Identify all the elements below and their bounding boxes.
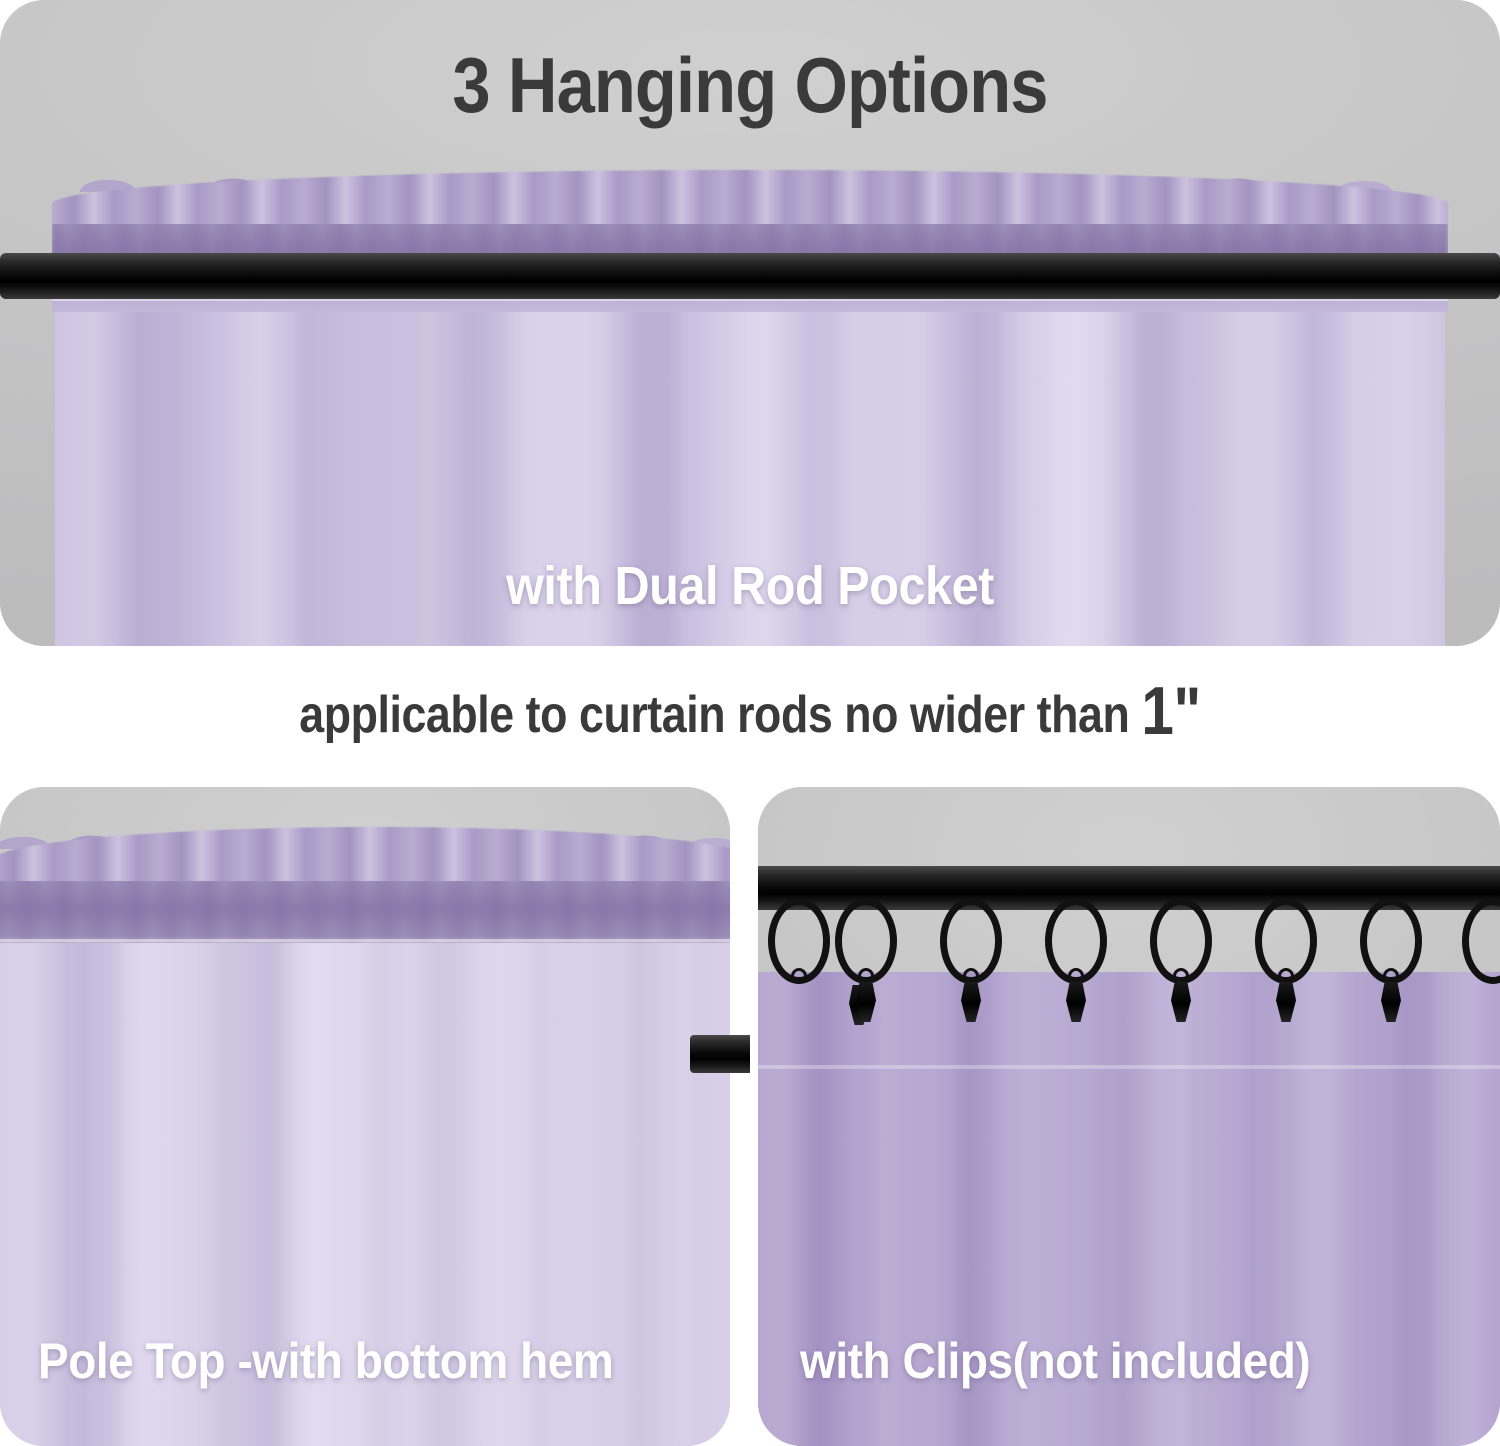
caption-pole-top: Pole Top -with bottom hem (38, 1332, 613, 1390)
caption-clips: with Clips(not included) (800, 1332, 1310, 1390)
panel-dual-rod-pocket: 3 Hanging Options with Dual Rod Pocket (0, 0, 1500, 646)
curtain-rod-icon (0, 253, 1500, 299)
page-title: 3 Hanging Options (90, 40, 1410, 131)
curtain-clip-hook-icon (1173, 968, 1189, 984)
curtain-header-seam (758, 1065, 1500, 1069)
curtain-clip-hook-icon (1278, 968, 1294, 984)
curtain-clip-hook-icon (858, 968, 874, 984)
subtitle-rod-width-note: applicable to curtain rods no wider than… (105, 672, 1395, 750)
curtain-clip-hook-icon (1068, 968, 1084, 984)
curtain-clip-hook-icon (963, 968, 979, 984)
pole-top-gather-band (0, 827, 730, 889)
subtitle-text: applicable to curtain rods no wider than (299, 686, 1141, 744)
curtain-header-pole-top (0, 827, 730, 947)
pole-top-pocket-band (0, 881, 730, 943)
pole-top-seam (0, 939, 730, 942)
curtain-clip-hook-icon (791, 968, 807, 984)
curtain-rod-icon (690, 1035, 750, 1073)
subtitle-measurement: 1" (1141, 673, 1200, 749)
curtain-clip-hook-icon (1383, 968, 1399, 984)
caption-dual-rod-pocket: with Dual Rod Pocket (75, 555, 1425, 617)
ruffle-top-band (52, 170, 1448, 232)
